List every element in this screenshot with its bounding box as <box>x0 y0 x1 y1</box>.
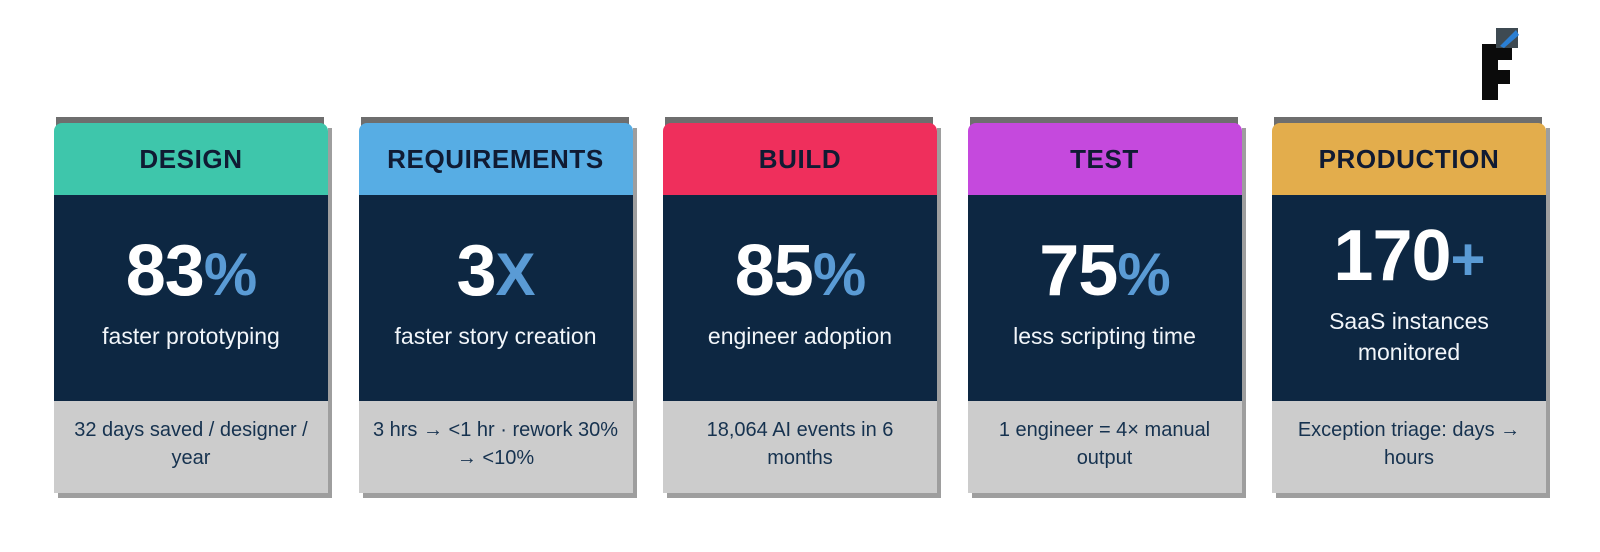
card-header-design: DESIGN <box>54 123 328 195</box>
stat-label: SaaS instances monitored <box>1284 306 1534 368</box>
stat-value: 85 <box>735 235 813 307</box>
stat-label: less scripting time <box>1013 321 1196 352</box>
card-body-design: 83 % faster prototyping <box>54 195 328 401</box>
stat-value: 3 <box>456 235 495 307</box>
stat-suffix: % <box>1117 245 1169 305</box>
stat-line: 85 % <box>735 235 865 307</box>
stat-suffix: % <box>813 245 865 305</box>
card-body-production: 170 + SaaS instances monitored <box>1272 195 1546 401</box>
stage-card-design[interactable]: DESIGN 83 % faster prototyping 32 days s… <box>54 123 328 493</box>
stat-label: faster story creation <box>395 321 597 352</box>
stat-label: faster prototyping <box>102 321 280 352</box>
stat-suffix: % <box>204 245 256 305</box>
stage-metrics-row: DESIGN 83 % faster prototyping 32 days s… <box>54 123 1546 495</box>
stat-line: 3 X <box>456 235 534 307</box>
stat-suffix: + <box>1451 230 1485 290</box>
card-footer-test: 1 engineer = 4× manual output <box>968 401 1242 493</box>
stat-value: 75 <box>1039 235 1117 307</box>
stage-card-production[interactable]: PRODUCTION 170 + SaaS instances monitore… <box>1272 123 1546 493</box>
card-header-build: BUILD <box>663 123 937 195</box>
card-body-requirements: 3 X faster story creation <box>359 195 633 401</box>
card-footer-production: Exception triage: days → hours <box>1272 401 1546 493</box>
stat-line: 75 % <box>1039 235 1169 307</box>
card-footer-design: 32 days saved / designer / year <box>54 401 328 493</box>
card-header-requirements: REQUIREMENTS <box>359 123 633 195</box>
card-body-test: 75 % less scripting time <box>968 195 1242 401</box>
brand-logo <box>1460 14 1522 100</box>
stat-suffix: X <box>496 245 535 305</box>
f-mark-icon <box>1460 14 1522 100</box>
stage-card-test[interactable]: TEST 75 % less scripting time 1 engineer… <box>968 123 1242 493</box>
stage-card-requirements[interactable]: REQUIREMENTS 3 X faster story creation 3… <box>359 123 633 493</box>
card-footer-build: 18,064 AI events in 6 months <box>663 401 937 493</box>
card-header-production: PRODUCTION <box>1272 123 1546 195</box>
stat-value: 83 <box>126 235 204 307</box>
stat-value: 170 <box>1333 220 1450 292</box>
stage-card-build[interactable]: BUILD 85 % engineer adoption 18,064 AI e… <box>663 123 937 493</box>
card-header-test: TEST <box>968 123 1242 195</box>
stat-line: 170 + <box>1333 220 1484 292</box>
card-body-build: 85 % engineer adoption <box>663 195 937 401</box>
card-footer-requirements: 3 hrs → <1 hr · rework 30% → <10% <box>359 401 633 493</box>
stat-label: engineer adoption <box>708 321 892 352</box>
stat-line: 83 % <box>126 235 256 307</box>
